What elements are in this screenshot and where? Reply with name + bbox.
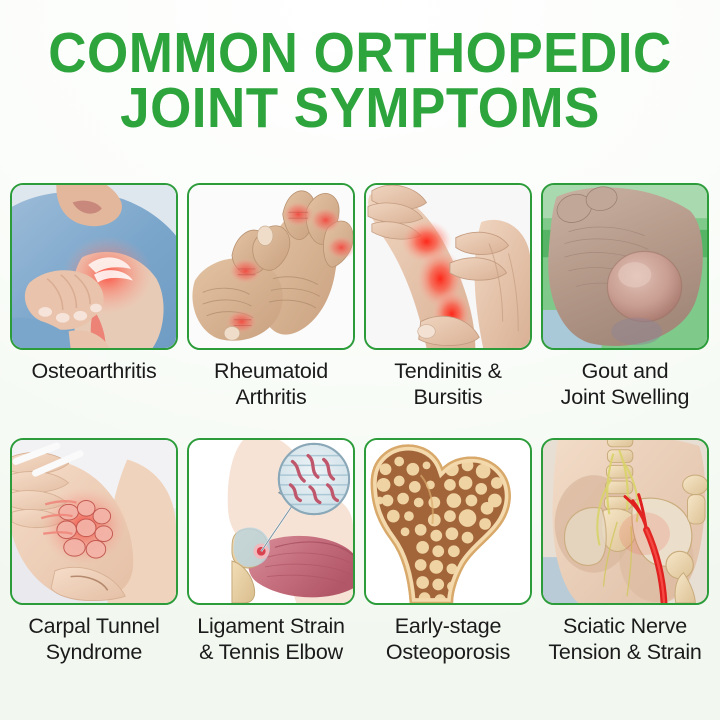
caption-sciatic-nerve-tension-strain: Sciatic Nerve Tension & Strain bbox=[541, 613, 709, 665]
porous-femur-diagram bbox=[366, 440, 530, 603]
caption-line-1: Ligament Strain bbox=[187, 613, 355, 639]
caption-line-2: Osteoporosis bbox=[364, 639, 532, 665]
symptom-cell-early-stage-osteoporosis: Early-stage Osteoporosis bbox=[364, 438, 532, 665]
caption-line-1: Rheumatoid bbox=[187, 358, 355, 384]
page-title: COMMON ORTHOPEDIC JOINT SYMPTOMS bbox=[0, 0, 720, 136]
caption-line-2: Joint Swelling bbox=[541, 384, 709, 410]
symptom-cell-rheumatoid-arthritis: Rheumatoid Arthritis bbox=[187, 183, 355, 410]
caption-line-2: Arthritis bbox=[187, 384, 355, 410]
symptom-card-gout-joint-swelling[interactable] bbox=[541, 183, 709, 350]
symptom-card-ligament-strain-tennis-elbow[interactable] bbox=[187, 438, 355, 605]
symptom-card-tendinitis-bursitis[interactable] bbox=[364, 183, 532, 350]
title-line-1: COMMON ORTHOPEDIC bbox=[25, 26, 695, 81]
caption-line-2: & Tennis Elbow bbox=[187, 639, 355, 665]
caption-gout-joint-swelling: Gout and Joint Swelling bbox=[541, 358, 709, 410]
symptom-card-rheumatoid-arthritis[interactable] bbox=[187, 183, 355, 350]
caption-ligament-strain-tennis-elbow: Ligament Strain & Tennis Elbow bbox=[187, 613, 355, 665]
gout-foot-photo bbox=[543, 185, 707, 348]
shoulder-pain-photo bbox=[12, 185, 176, 348]
wrist-bones-overlay-photo bbox=[12, 440, 176, 603]
caption-carpal-tunnel-syndrome: Carpal Tunnel Syndrome bbox=[10, 613, 178, 665]
symptom-cell-osteoarthritis: Osteoarthritis bbox=[10, 183, 178, 410]
caption-line-1: Carpal Tunnel bbox=[10, 613, 178, 639]
caption-tendinitis-bursitis: Tendinitis & Bursitis bbox=[364, 358, 532, 410]
caption-line-1: Osteoarthritis bbox=[10, 358, 178, 384]
caption-line-2: Bursitis bbox=[364, 384, 532, 410]
caption-line-1: Early-stage bbox=[364, 613, 532, 639]
title-line-2: JOINT SYMPTOMS bbox=[25, 81, 695, 136]
symptom-cell-tendinitis-bursitis: Tendinitis & Bursitis bbox=[364, 183, 532, 410]
caption-line-1: Gout and bbox=[541, 358, 709, 384]
inflamed-forearm-photo bbox=[366, 185, 530, 348]
symptom-cell-carpal-tunnel-syndrome: Carpal Tunnel Syndrome bbox=[10, 438, 178, 665]
caption-line-2: Tension & Strain bbox=[541, 639, 709, 665]
elbow-anatomy-diagram bbox=[189, 440, 353, 603]
symptom-card-early-stage-osteoporosis[interactable] bbox=[364, 438, 532, 605]
symptom-card-grid: Osteoarthritis bbox=[10, 183, 710, 665]
caption-line-1: Tendinitis & bbox=[364, 358, 532, 384]
symptom-cell-ligament-strain-tennis-elbow: Ligament Strain & Tennis Elbow bbox=[187, 438, 355, 665]
arthritic-hands-photo bbox=[189, 185, 353, 348]
caption-early-stage-osteoporosis: Early-stage Osteoporosis bbox=[364, 613, 532, 665]
symptom-cell-gout-joint-swelling: Gout and Joint Swelling bbox=[541, 183, 709, 410]
caption-line-1: Sciatic Nerve bbox=[541, 613, 709, 639]
symptom-cell-sciatic-nerve-tension-strain: Sciatic Nerve Tension & Strain bbox=[541, 438, 709, 665]
symptom-card-osteoarthritis[interactable] bbox=[10, 183, 178, 350]
caption-osteoarthritis: Osteoarthritis bbox=[10, 358, 178, 384]
sciatic-nerve-diagram bbox=[543, 440, 707, 603]
symptom-card-carpal-tunnel-syndrome[interactable] bbox=[10, 438, 178, 605]
caption-rheumatoid-arthritis: Rheumatoid Arthritis bbox=[187, 358, 355, 410]
caption-line-2: Syndrome bbox=[10, 639, 178, 665]
symptom-card-sciatic-nerve-tension-strain[interactable] bbox=[541, 438, 709, 605]
